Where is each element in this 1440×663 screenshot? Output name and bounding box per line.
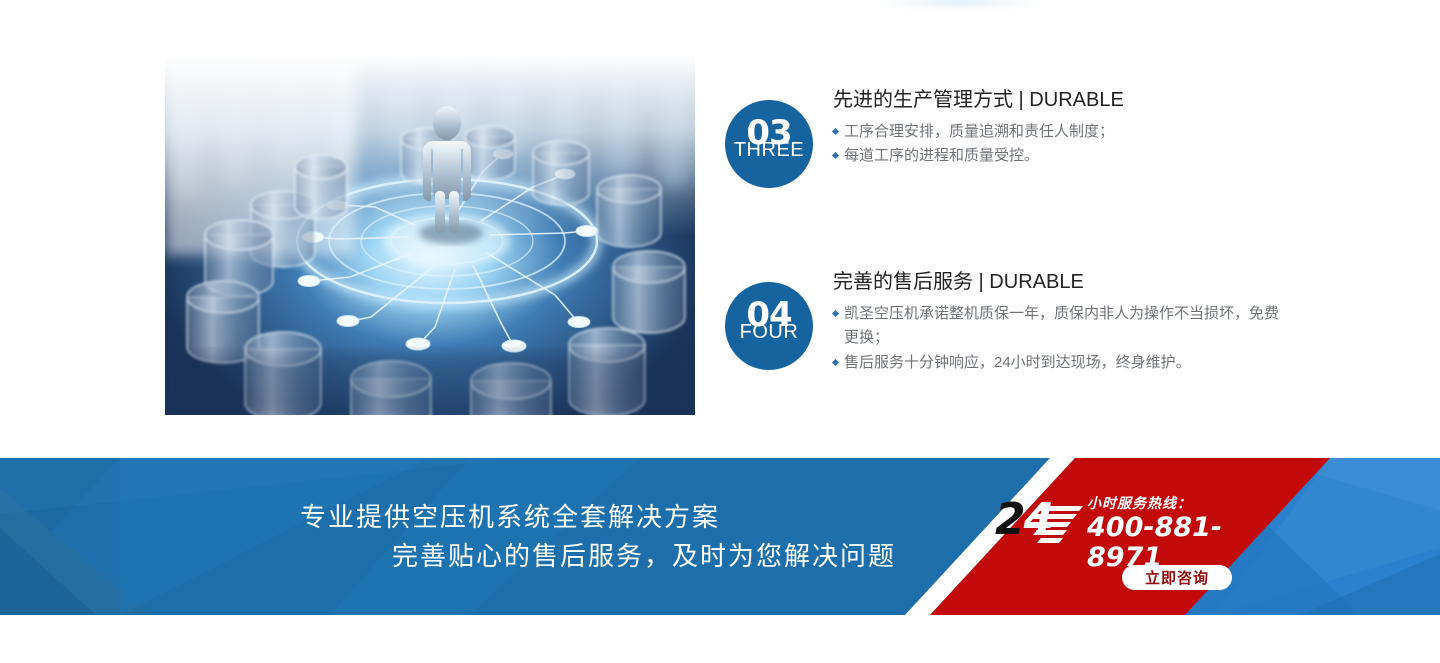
digit-two: 2 <box>995 494 1024 545</box>
consult-now-button[interactable]: 立即咨询 <box>1122 565 1232 590</box>
banner-slogan-line-2: 完善贴心的售后服务，及时为您解决问题 <box>0 537 920 576</box>
top-edge-smudge <box>880 0 1040 6</box>
speed-lines-icon <box>1027 500 1083 550</box>
feature-item-03: 03 THREE 先进的生产管理方式 | DURABLE 工序合理安排，质量追溯… <box>725 88 1285 198</box>
feature-line: 工序合理安排，质量追溯和责任人制度； <box>833 120 1285 144</box>
feature-item-04: 04 FOUR 完善的售后服务 | DURABLE 凯圣空压机承诺整机质保一年，… <box>725 270 1285 380</box>
network-connection-illustration <box>165 55 695 415</box>
hotline-block: 24 小时服务热线： 400-881-8971 <box>995 496 1295 558</box>
feature-badge-word: FOUR <box>725 322 813 342</box>
feature-lines: 凯圣空压机承诺整机质保一年，质保内非人为操作不当损坏，免费更换； 售后服务十分钟… <box>833 302 1285 375</box>
promo-page: 03 THREE 先进的生产管理方式 | DURABLE 工序合理安排，质量追溯… <box>0 0 1440 663</box>
feature-title: 完善的售后服务 | DURABLE <box>833 270 1285 294</box>
feature-body: 先进的生产管理方式 | DURABLE 工序合理安排，质量追溯和责任人制度； 每… <box>833 88 1285 169</box>
feature-title: 先进的生产管理方式 | DURABLE <box>833 88 1285 112</box>
feature-list: 03 THREE 先进的生产管理方式 | DURABLE 工序合理安排，质量追溯… <box>725 88 1285 380</box>
banner-slogan: 专业提供空压机系统全套解决方案 完善贴心的售后服务，及时为您解决问题 <box>0 458 920 615</box>
feature-line: 售后服务十分钟响应，24小时到达现场，终身维护。 <box>833 351 1285 375</box>
feature-badge-word: THREE <box>725 140 813 160</box>
hotline-number[interactable]: 400-881-8971 <box>1087 513 1295 572</box>
hotline-label: 小时服务热线： <box>1087 496 1192 511</box>
feature-lines: 工序合理安排，质量追溯和责任人制度； 每道工序的进程和质量受控。 <box>833 120 1285 169</box>
banner-slogan-line-1: 专业提供空压机系统全套解决方案 <box>0 498 920 537</box>
feature-body: 完善的售后服务 | DURABLE 凯圣空压机承诺整机质保一年，质保内非人为操作… <box>833 270 1285 375</box>
hotline-row: 24 小时服务热线： 400-881-8971 <box>995 496 1295 558</box>
feature-line: 每道工序的进程和质量受控。 <box>833 144 1285 168</box>
illustration-graphic <box>165 55 695 415</box>
feature-line: 凯圣空压机承诺整机质保一年，质保内非人为操作不当损坏，免费更换； <box>833 302 1285 351</box>
feature-badge-03: 03 THREE <box>725 100 813 188</box>
feature-badge-04: 04 FOUR <box>725 282 813 370</box>
